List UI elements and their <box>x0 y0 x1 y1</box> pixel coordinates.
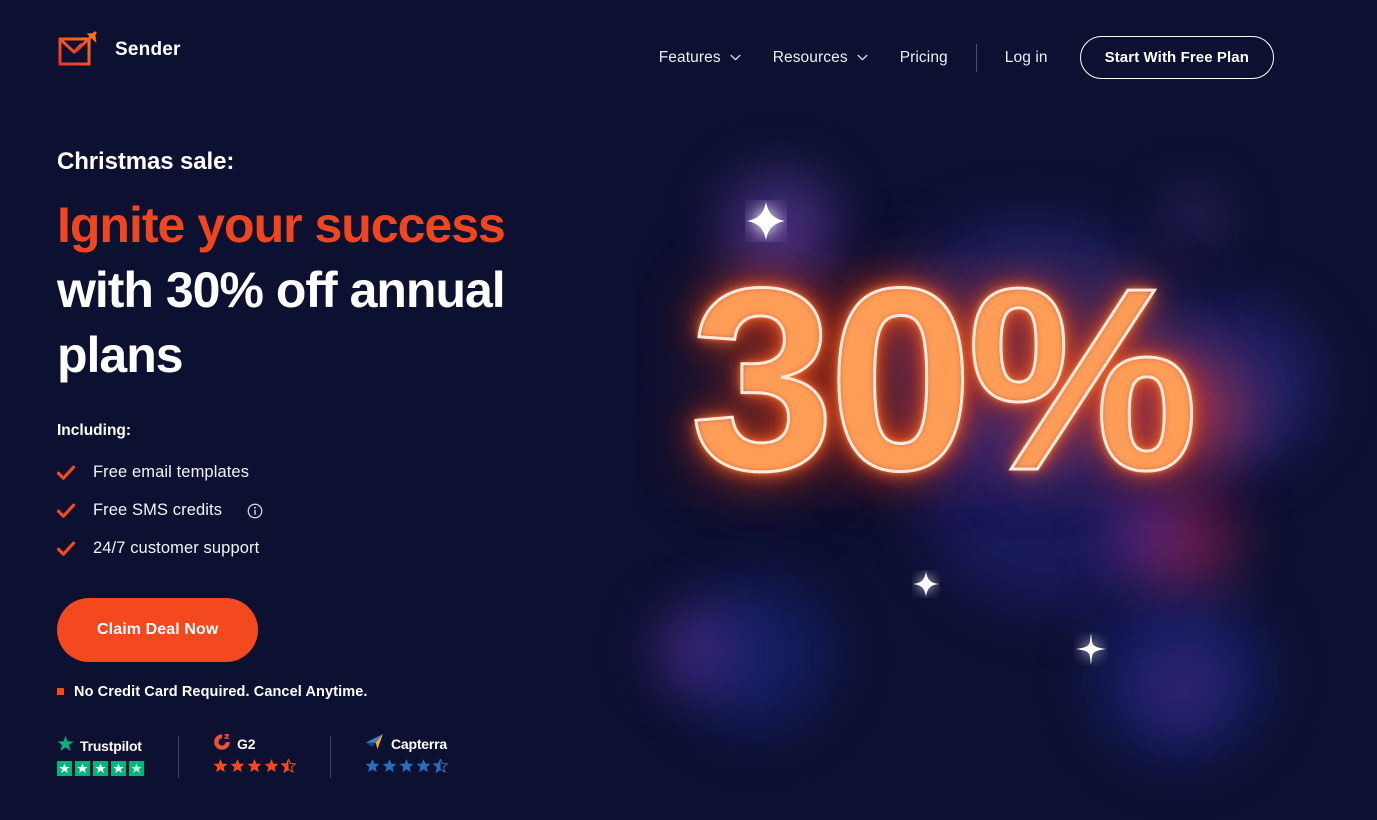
star-icon <box>399 759 414 778</box>
hero-content: Christmas sale: Ignite your success with… <box>57 148 617 778</box>
check-icon <box>57 465 75 481</box>
star-icon <box>93 761 108 776</box>
badge-rating-stars <box>57 761 144 776</box>
badge-divider <box>330 736 331 778</box>
feature-label: Free SMS credits <box>93 501 222 520</box>
list-item: 24/7 customer support <box>57 530 617 568</box>
badge-rating-stars <box>365 759 448 778</box>
brand-logo[interactable]: Sender <box>57 30 181 70</box>
hero-artwork: 30% <box>640 120 1340 740</box>
star-icon-half <box>129 761 144 776</box>
review-badges: Trustpilot <box>57 736 617 778</box>
neon-discount-graphic: 30% <box>690 250 1270 580</box>
info-circle-icon[interactable] <box>240 503 263 519</box>
badge-name: G2 <box>237 736 255 752</box>
envelope-arrow-icon <box>57 30 101 70</box>
list-item: Free email templates <box>57 454 617 492</box>
square-bullet-icon <box>57 688 64 695</box>
badge-name: Trustpilot <box>80 738 142 754</box>
nav-item-resources-label: Resources <box>773 49 848 67</box>
site-header: Sender Features Resources Pricing Log <box>0 0 1377 104</box>
sparkle-star-icon <box>745 200 787 247</box>
badge-rating-stars <box>213 759 296 778</box>
star-icon-half <box>433 759 448 778</box>
sparkle-star-icon <box>1074 632 1108 671</box>
chevron-down-icon <box>857 54 868 61</box>
disclaimer: No Credit Card Required. Cancel Anytime. <box>57 684 617 700</box>
hero-headline-accent: Ignite your success <box>57 193 617 258</box>
start-free-plan-button[interactable]: Start With Free Plan <box>1080 36 1274 79</box>
badge-g2[interactable]: G2 <box>213 736 296 778</box>
neon-discount-value: 30% <box>690 235 1192 525</box>
badge-header: G2 <box>213 736 296 753</box>
trustpilot-star-icon <box>57 736 74 757</box>
hero-headline-line2: plans <box>57 323 617 388</box>
feature-label: Free email templates <box>93 463 249 482</box>
star-icon-half <box>281 759 296 778</box>
hero-headline: Ignite your success with 30% off annual … <box>57 193 617 388</box>
star-icon <box>416 759 431 778</box>
star-icon <box>75 761 90 776</box>
login-link[interactable]: Log in <box>989 42 1064 73</box>
star-icon <box>57 761 72 776</box>
brand-name: Sender <box>115 39 181 61</box>
star-icon <box>365 759 380 778</box>
main-navigation: Features Resources Pricing Log in Start … <box>643 36 1274 79</box>
disclaimer-text: No Credit Card Required. Cancel Anytime. <box>74 684 368 700</box>
list-item: Free SMS credits <box>57 492 617 530</box>
star-icon <box>382 759 397 778</box>
bokeh-circle <box>1155 660 1210 715</box>
landing-page: 30% <box>0 0 1377 820</box>
nav-item-features[interactable]: Features <box>643 42 757 73</box>
including-label: Including: <box>57 422 617 440</box>
badge-divider <box>178 736 179 778</box>
star-icon <box>264 759 279 778</box>
hero-eyebrow: Christmas sale: <box>57 148 617 177</box>
badge-name: Capterra <box>391 736 447 752</box>
feature-label: 24/7 customer support <box>93 539 259 558</box>
nav-item-pricing-label: Pricing <box>900 49 948 67</box>
hero-headline-line1: with 30% off annual <box>57 258 617 323</box>
sparkle-cross-icon <box>912 570 940 603</box>
star-icon <box>213 759 228 778</box>
star-icon <box>111 761 126 776</box>
badge-capterra[interactable]: Capterra <box>365 736 448 778</box>
claim-deal-button[interactable]: Claim Deal Now <box>57 598 258 662</box>
badge-trustpilot[interactable]: Trustpilot <box>57 738 144 776</box>
capterra-arrow-icon <box>365 733 385 755</box>
star-icon <box>247 759 262 778</box>
nav-item-pricing[interactable]: Pricing <box>884 42 964 73</box>
nav-item-resources[interactable]: Resources <box>757 42 884 73</box>
check-icon <box>57 503 75 519</box>
g2-logo-icon <box>213 733 231 756</box>
login-link-label: Log in <box>1005 49 1048 67</box>
star-icon <box>230 759 245 778</box>
bokeh-circle <box>655 610 735 690</box>
feature-list: Free email templates Free SMS credits <box>57 454 617 568</box>
nav-divider <box>976 44 977 72</box>
nav-item-features-label: Features <box>659 49 721 67</box>
check-icon <box>57 541 75 557</box>
badge-header: Capterra <box>365 736 448 753</box>
chevron-down-icon <box>730 54 741 61</box>
badge-header: Trustpilot <box>57 738 144 755</box>
